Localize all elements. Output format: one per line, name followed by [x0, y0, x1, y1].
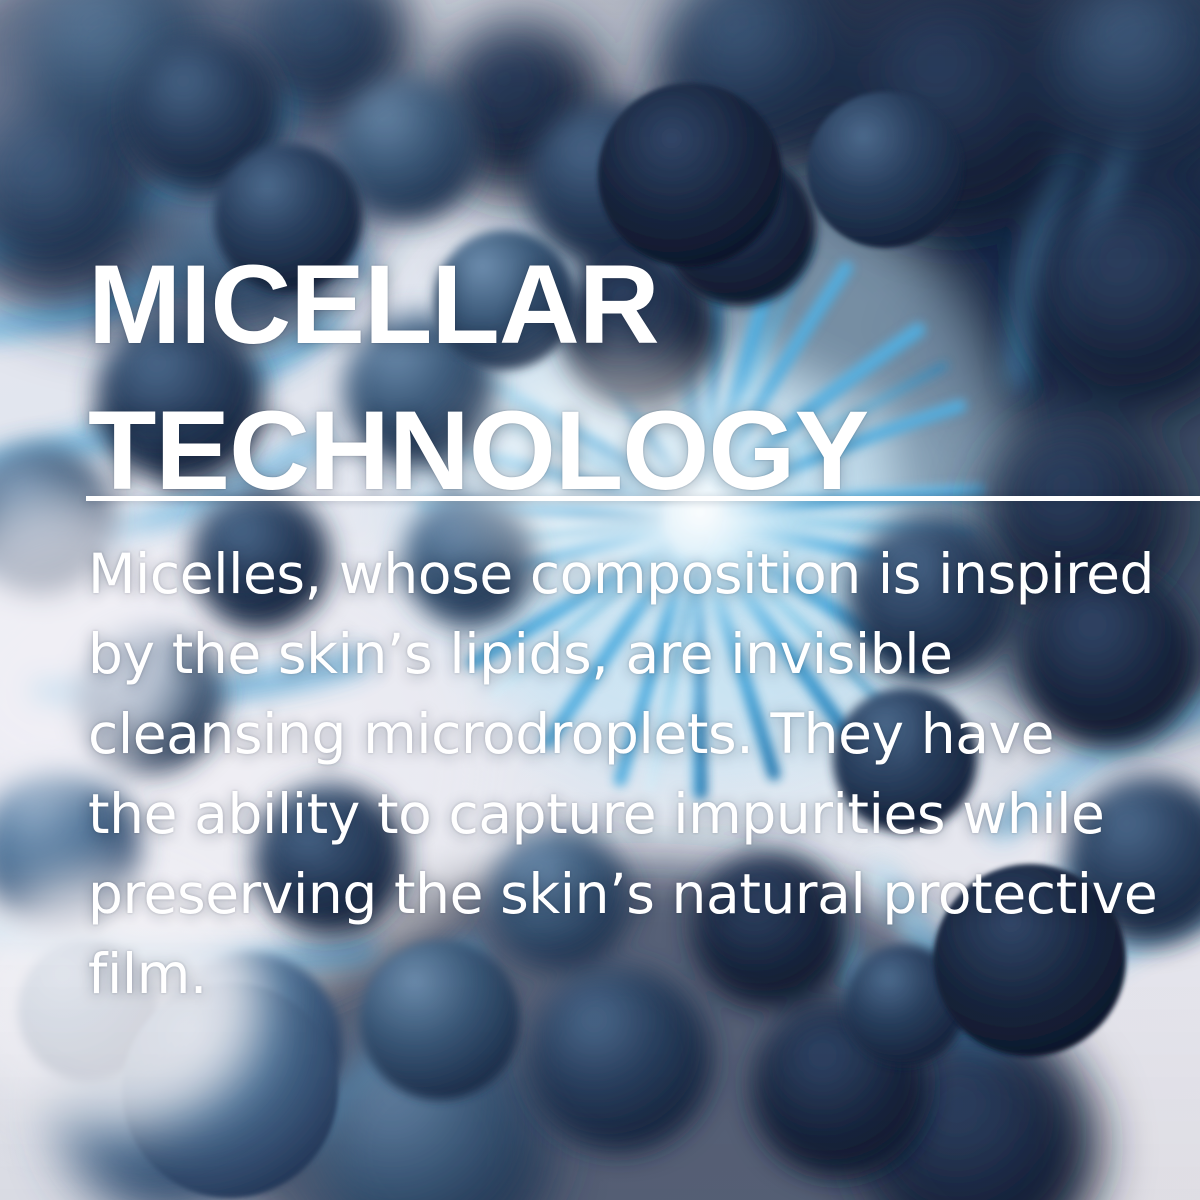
text-content: MICELLAR TECHNOLOGY Micelles, whose comp… [88, 0, 1200, 1200]
micellar-technology-card: MICELLAR TECHNOLOGY Micelles, whose comp… [0, 0, 1200, 1200]
title-divider-rule [86, 496, 1200, 501]
body-paragraph: Micelles, whose composition is inspired … [88, 534, 1160, 1014]
page-title: MICELLAR TECHNOLOGY [88, 232, 1148, 524]
